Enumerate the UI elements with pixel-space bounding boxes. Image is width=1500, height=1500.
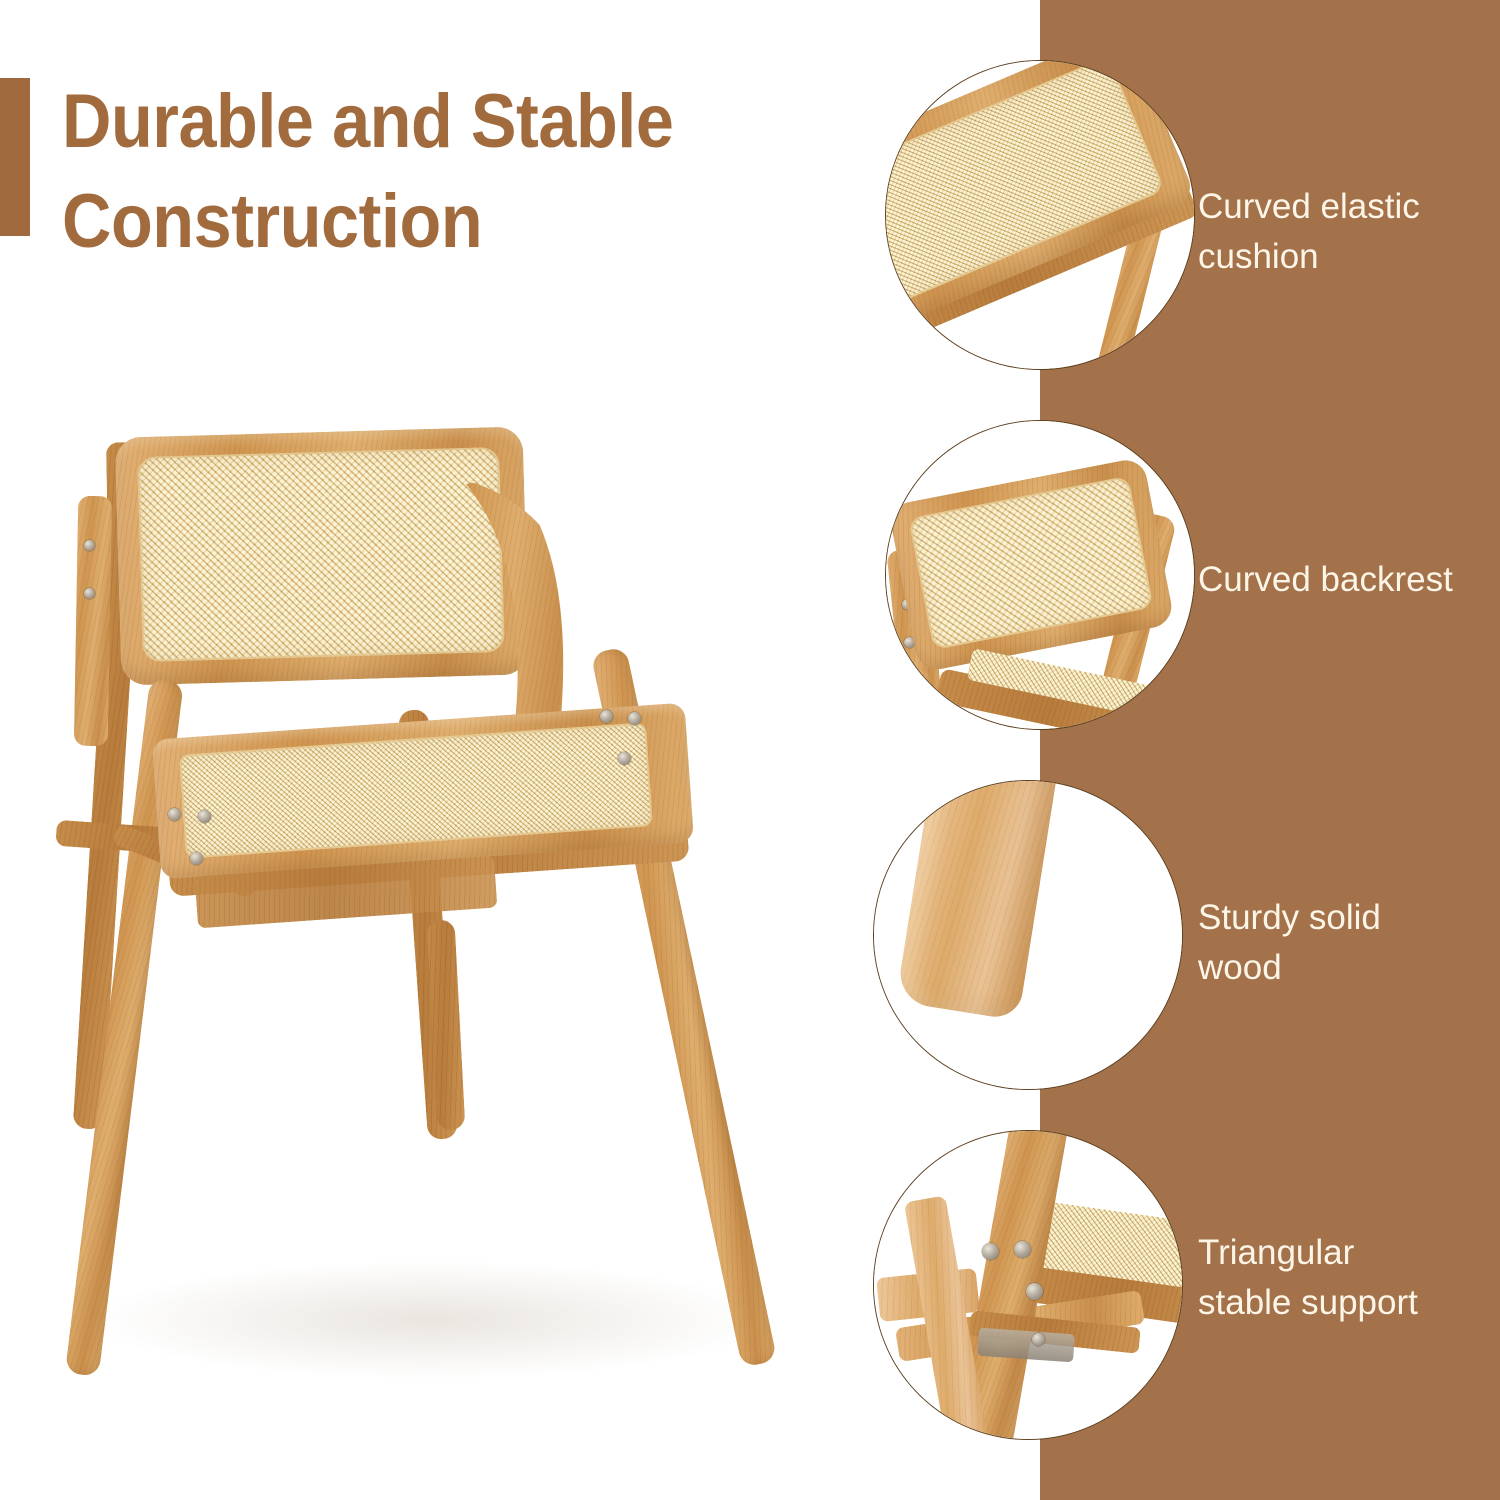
feature-triangular-stable-support: Triangular stable support — [0, 0, 1500, 1500]
feature-circle-4-clip — [874, 1131, 1182, 1439]
feature-label-4: Triangular stable support — [1198, 1228, 1498, 1327]
feature-circle-4 — [873, 1130, 1183, 1440]
marketing-image-canvas: Durable and Stable Construction — [0, 0, 1500, 1500]
feature-photo-bracing-detail — [874, 1131, 1182, 1439]
